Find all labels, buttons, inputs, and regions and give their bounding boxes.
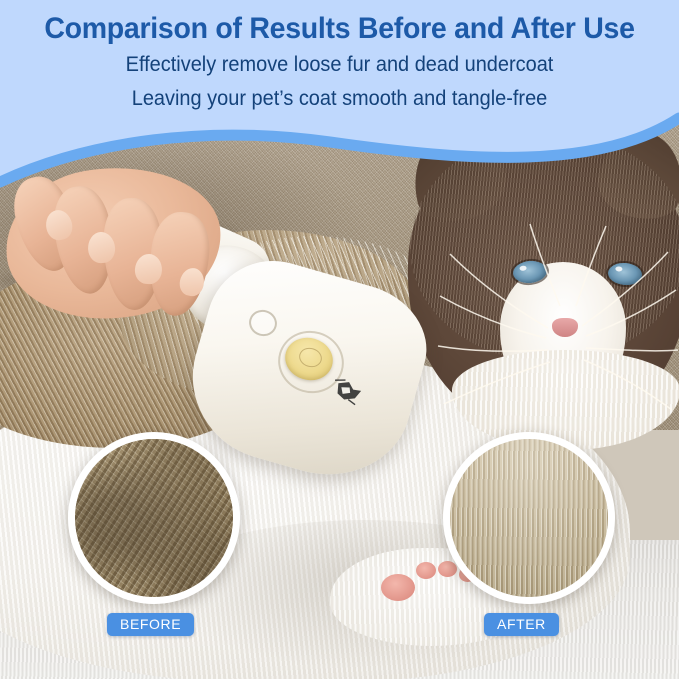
after-badge: AFTER (484, 613, 559, 636)
after-magnifier-circle (443, 432, 615, 604)
before-badge: BEFORE (107, 613, 194, 636)
before-magnifier-circle (68, 432, 240, 604)
paw-pad-toe-1 (416, 562, 436, 579)
paw-pad-main (381, 574, 415, 601)
after-fur-closeup (443, 432, 615, 604)
before-fur-closeup (68, 432, 240, 604)
product-photo: BEFORE AFTER (0, 0, 679, 679)
product-comparison-image: BEFORE AFTER Comparison of Results Befor… (0, 0, 679, 679)
